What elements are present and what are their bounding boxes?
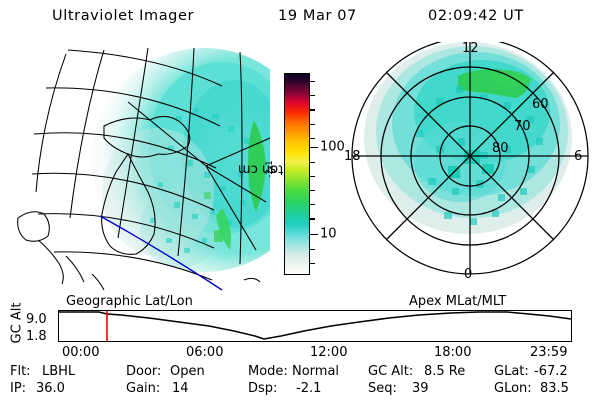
seq-label: Seq: [368, 381, 397, 396]
altitude-tick-low: 1.8 [26, 329, 47, 344]
time-tick-0: 00:00 [62, 345, 99, 360]
colorbar: photon cm-2s-1 100 10 [284, 68, 340, 283]
time-tick-3: 18:00 [434, 345, 471, 360]
colorbar-ticks: 100 10 [310, 73, 340, 275]
left-panel-caption: Geographic Lat/Lon [66, 294, 193, 309]
header-bar: Ultraviolet Imager 19 Mar 07 02:09:42 UT [0, 8, 600, 30]
ip-label: IP: [10, 381, 26, 396]
altitude-curve [59, 312, 571, 339]
dsp-value: -2.1 [296, 381, 321, 396]
svg-text:18: 18 [344, 149, 361, 164]
time-tick-1: 06:00 [186, 345, 223, 360]
gc-alt-value: 8.5 Re [424, 364, 465, 379]
time-axis: 00:00 06:00 12:00 18:00 23:59 [0, 345, 600, 361]
geographic-image-panel[interactable] [8, 42, 270, 292]
colorbar-axis-label: photon cm-2s-1 [264, 68, 282, 270]
glat-label: GLat: [494, 364, 529, 379]
observation-date: 19 Mar 07 [278, 8, 357, 24]
filter-label: Flt: [10, 364, 31, 379]
ip-value: 36.0 [36, 381, 65, 396]
status-row-2: IP: 36.0 Gain: 14 Dsp: -2.1 Seq: 39 GLon… [0, 381, 600, 398]
svg-text:70: 70 [514, 119, 531, 134]
apex-dial-panel[interactable]: 12 6 18 0 60 70 80 [340, 42, 598, 292]
glat-value: -67.2 [534, 364, 568, 379]
mode-label: Mode: [248, 364, 288, 379]
mode-value: Normal [292, 364, 339, 379]
altitude-axis-label: GC Alt [8, 300, 26, 346]
gain-value: 14 [172, 381, 189, 396]
glon-label: GLon: [494, 381, 532, 396]
instrument-title: Ultraviolet Imager [52, 8, 194, 24]
time-tick-2: 12:00 [310, 345, 347, 360]
colorbar-tick-10: 10 [320, 226, 337, 241]
seq-value: 39 [412, 381, 429, 396]
svg-text:12: 12 [462, 42, 479, 56]
altitude-timeseries-plot[interactable] [58, 310, 572, 342]
status-readout: Flt: LBHL Door: Open Mode: Normal GC Alt… [0, 364, 600, 400]
svg-text:6: 6 [574, 149, 582, 164]
altitude-tick-high: 9.0 [26, 312, 47, 327]
svg-text:60: 60 [532, 97, 549, 112]
gain-label: Gain: [126, 381, 160, 396]
dsp-label: Dsp: [248, 381, 277, 396]
status-row-1: Flt: LBHL Door: Open Mode: Normal GC Alt… [0, 364, 600, 381]
filter-value: LBHL [42, 364, 75, 379]
right-panel-caption: Apex MLat/MLT [409, 294, 506, 309]
svg-text:0: 0 [464, 267, 472, 282]
glon-value: 83.5 [540, 381, 569, 396]
time-tick-4: 23:59 [530, 345, 567, 360]
colorbar-gradient [284, 73, 310, 275]
door-label: Door: [126, 364, 161, 379]
door-value: Open [170, 364, 205, 379]
svg-text:80: 80 [492, 141, 509, 156]
gc-alt-label: GC Alt: [368, 364, 413, 379]
observation-time: 02:09:42 UT [428, 8, 524, 24]
aurora-emission [92, 48, 270, 272]
